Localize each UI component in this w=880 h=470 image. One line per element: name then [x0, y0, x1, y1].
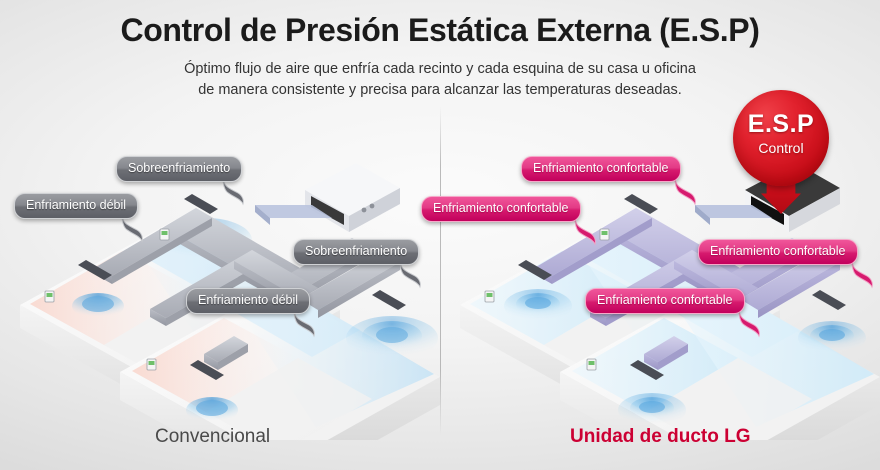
- esp-subtitle: Control: [733, 140, 829, 156]
- page-title: Control de Presión Estática Externa (E.S…: [0, 0, 880, 49]
- subtitle-line-1: Óptimo flujo de aire que enfría cada rec…: [130, 59, 750, 80]
- callout-label: Enfriamiento confortable: [698, 239, 858, 265]
- caption-conventional: Convencional: [155, 426, 270, 448]
- callout-label: Enfriamiento débil: [14, 193, 138, 219]
- callout-label: Enfriamiento confortable: [521, 156, 681, 182]
- caption-lg-duct-unit: Unidad de ducto LG: [570, 426, 751, 448]
- callout-label: Enfriamiento confortable: [585, 288, 745, 314]
- callout-label: Enfriamiento débil: [186, 288, 310, 314]
- duct-unit-icon: [255, 163, 400, 232]
- label-pointer-tail: [674, 177, 700, 205]
- label-pointer-tail: [851, 260, 877, 288]
- subtitle-line-2: de manera consistente y precisa para alc…: [130, 80, 750, 101]
- page-subtitle: Óptimo flujo de aire que enfría cada rec…: [130, 59, 750, 101]
- infographic-canvas: Control de Presión Estática Externa (E.S…: [0, 0, 880, 470]
- callout-label: Enfriamiento confortable: [421, 196, 581, 222]
- esp-title: E.S.P: [733, 110, 829, 139]
- label-pointer-tail: [738, 309, 764, 337]
- callout-label: Sobreenfriamiento: [116, 156, 242, 182]
- esp-control-badge[interactable]: E.S.P Control: [733, 90, 829, 210]
- header: Control de Presión Estática Externa (E.S…: [0, 0, 880, 101]
- callout-label: Sobreenfriamiento: [293, 239, 419, 265]
- label-pointer-tail: [574, 217, 600, 245]
